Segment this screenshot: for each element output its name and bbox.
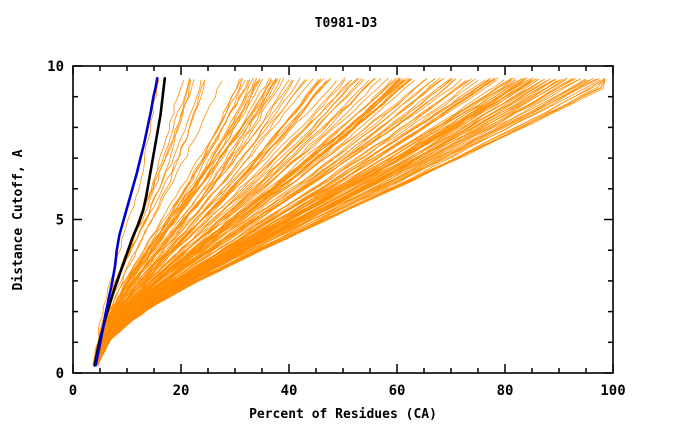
y-tick-label: 5 (56, 213, 64, 229)
chart-container: T0981-D3 Distance Cutoff, A Percent of R… (0, 0, 680, 440)
x-axis-label: Percent of Residues (CA) (249, 407, 437, 422)
y-axis-label: Distance Cutoff, A (11, 149, 26, 290)
x-tick-label: 20 (173, 383, 190, 399)
x-tick-label: 60 (389, 383, 406, 399)
distance-cutoff-chart: T0981-D3 Distance Cutoff, A Percent of R… (0, 0, 680, 440)
x-tick-label: 100 (600, 383, 625, 399)
y-tick-label: 10 (47, 59, 64, 75)
y-tick-label: 0 (56, 366, 64, 382)
x-tick-label: 40 (281, 383, 298, 399)
chart-title: T0981-D3 (315, 16, 378, 31)
x-tick-label: 0 (69, 383, 77, 399)
x-tick-label: 80 (497, 383, 514, 399)
